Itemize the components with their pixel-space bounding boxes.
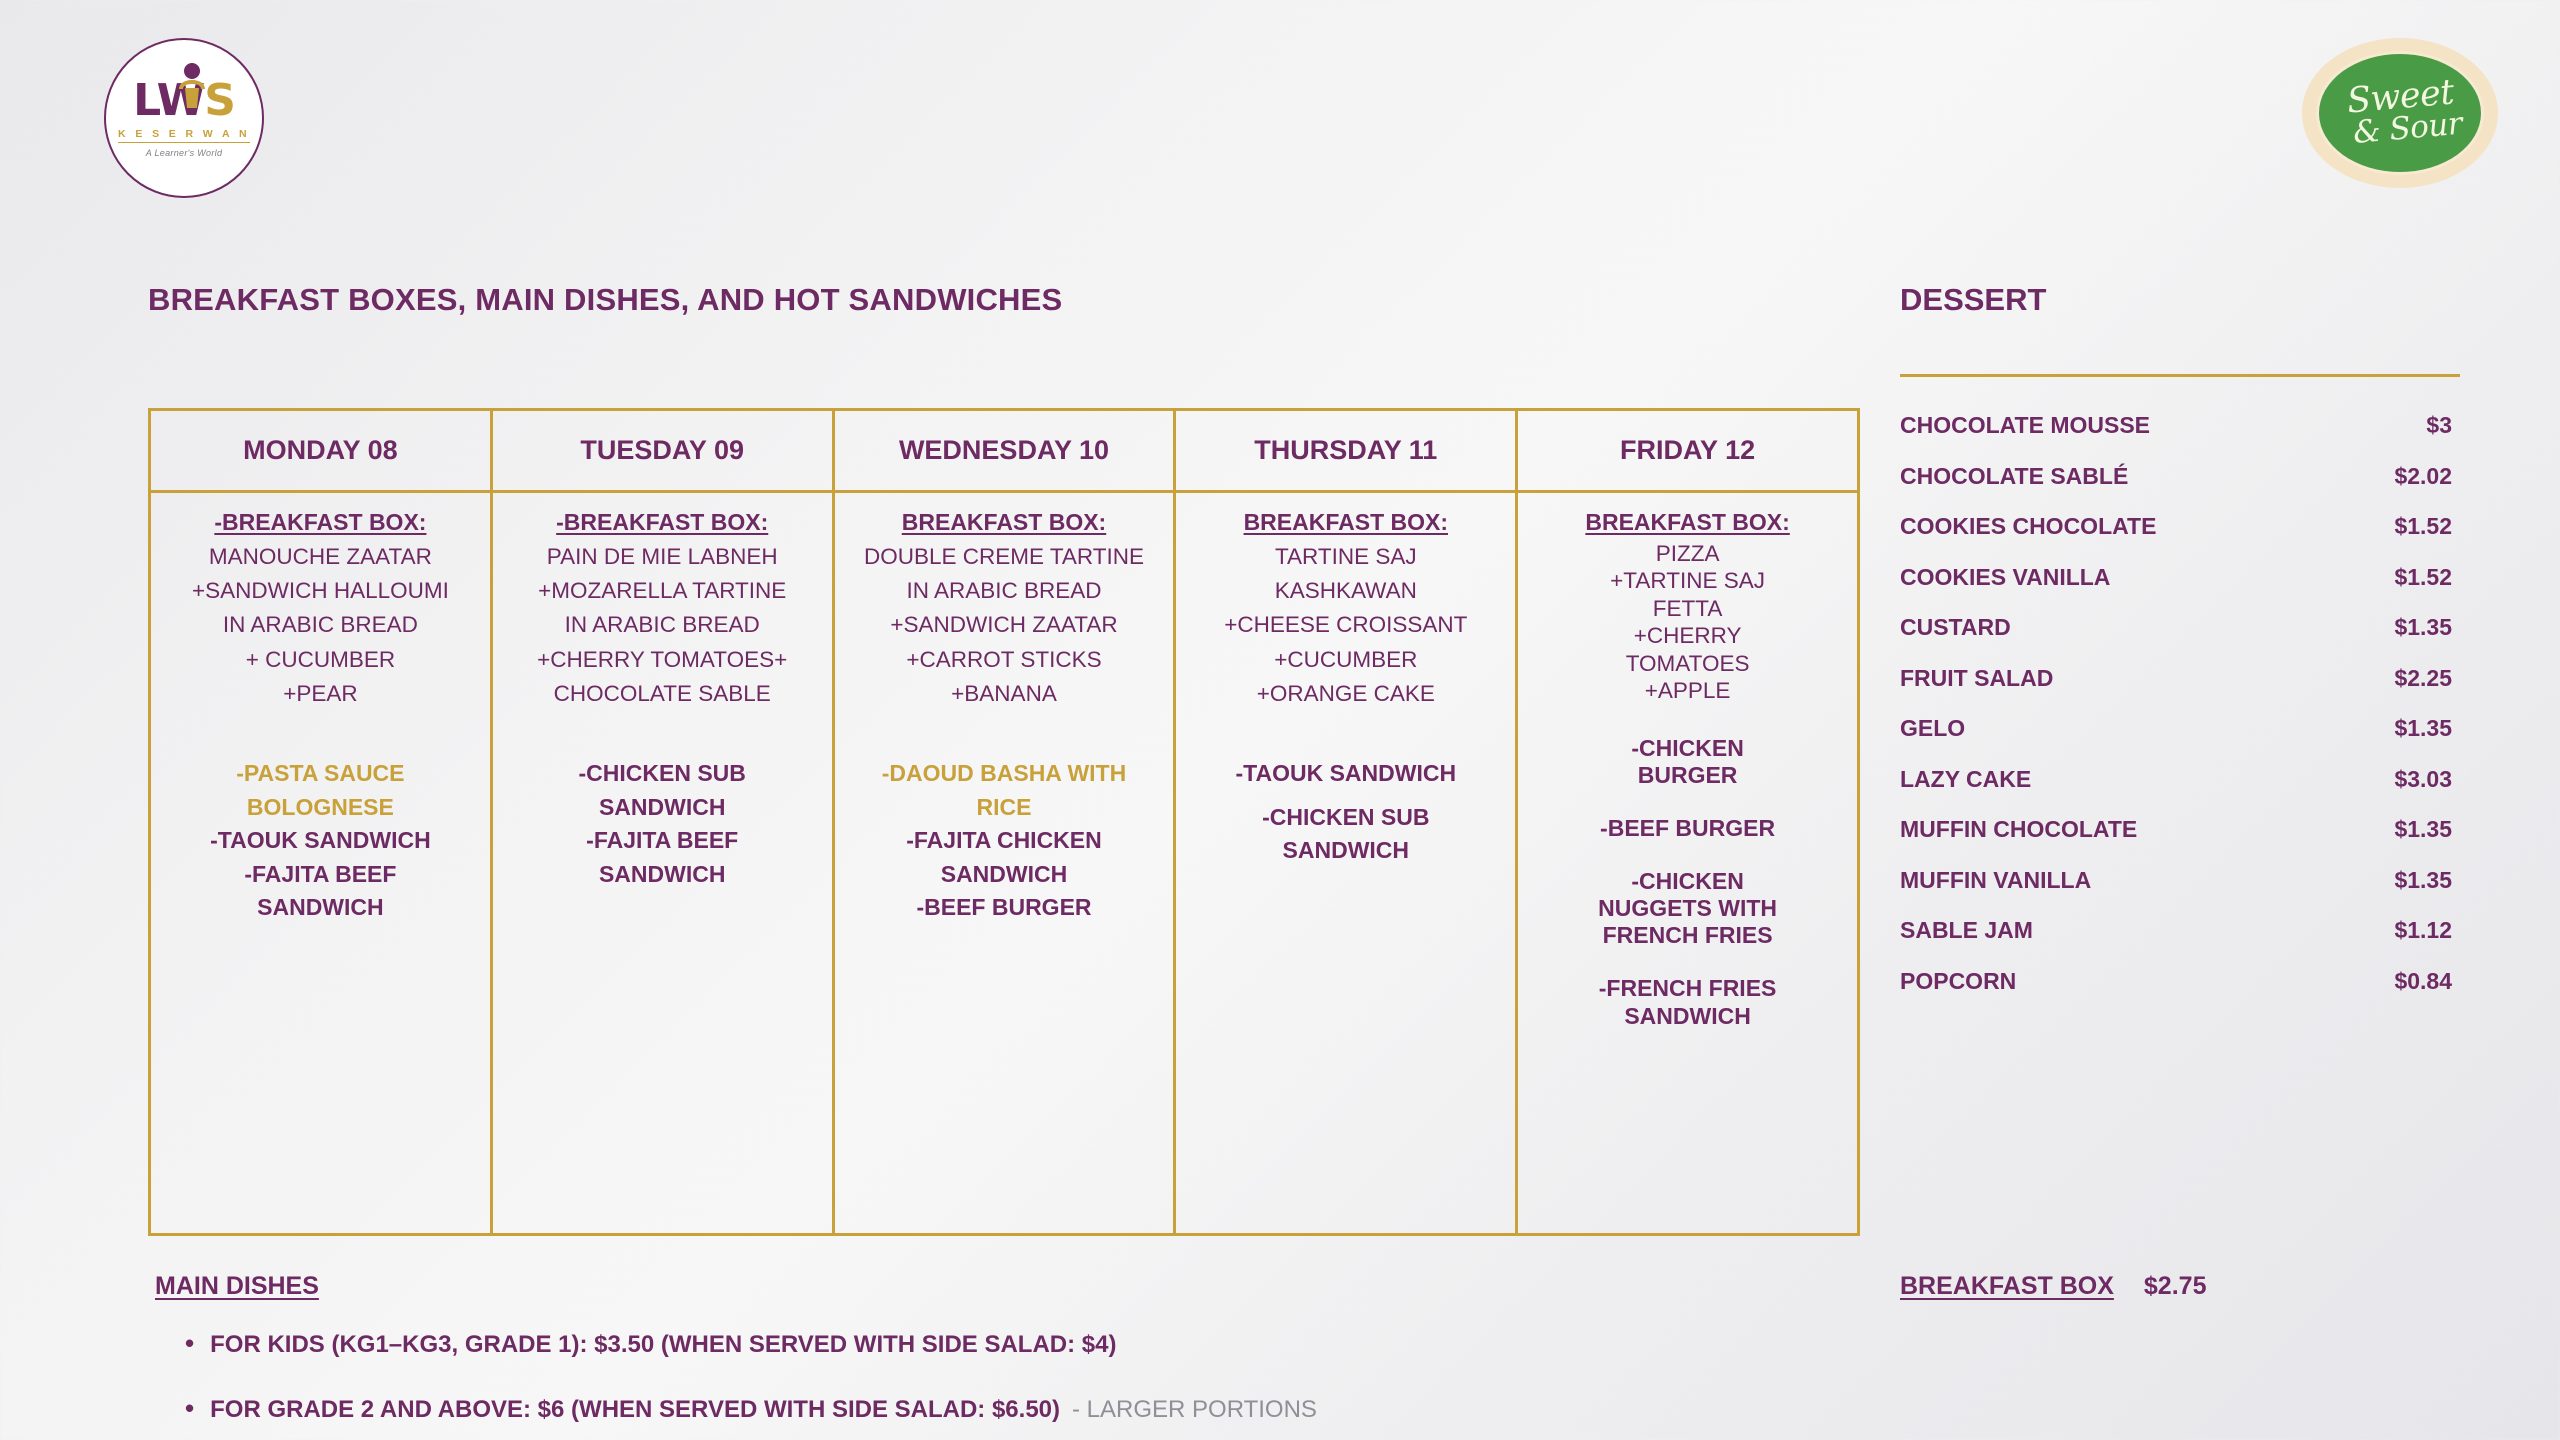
breakfast-box-item: IN ARABIC BREAD bbox=[157, 608, 484, 642]
breakfast-box-item: +PEAR bbox=[157, 677, 484, 711]
day-header: THURSDAY 11 bbox=[1176, 411, 1515, 493]
dessert-name: COOKIES VANILLA bbox=[1900, 564, 2110, 591]
lwis-school-logo: LW S K E S E R W A N A Learner's World bbox=[104, 38, 264, 198]
sweet-logo-line2: & Sour bbox=[2352, 109, 2463, 149]
dessert-row: CHOCOLATE MOUSSE$3 bbox=[1900, 412, 2460, 439]
day-column: FRIDAY 12BREAKFAST BOX:PIZZA+TARTINE SAJ… bbox=[1518, 411, 1857, 1233]
dessert-name: CHOCOLATE MOUSSE bbox=[1900, 412, 2150, 439]
breakfast-box-item: PIZZA bbox=[1524, 540, 1851, 567]
lwis-tagline: A Learner's World bbox=[146, 148, 223, 158]
dish-item: -PASTA SAUCE bbox=[157, 757, 484, 791]
breakfast-box-item: TARTINE SAJ bbox=[1182, 540, 1509, 574]
dish-item: NUGGETS WITH bbox=[1524, 895, 1851, 922]
section-spacer bbox=[1182, 711, 1509, 757]
dish-item: SANDWICH bbox=[499, 858, 826, 892]
day-header: MONDAY 08 bbox=[151, 411, 490, 493]
dish-item: -TAOUK SANDWICH bbox=[1182, 757, 1509, 791]
section-spacer bbox=[1524, 949, 1851, 975]
dessert-price: $1.52 bbox=[2394, 513, 2460, 540]
dish-item: -BEEF BURGER bbox=[1524, 815, 1851, 842]
breakfast-box-price: $2.75 bbox=[2144, 1272, 2207, 1301]
breakfast-box-item: +CHERRY TOMATOES+ bbox=[499, 643, 826, 677]
breakfast-box-title: -BREAKFAST BOX: bbox=[157, 509, 484, 536]
page-title: BREAKFAST BOXES, MAIN DISHES, AND HOT SA… bbox=[148, 282, 1062, 318]
lwis-keserwan-label: K E S E R W A N bbox=[118, 128, 250, 143]
weekly-menu-table: MONDAY 08-BREAKFAST BOX:MANOUCHE ZAATAR+… bbox=[148, 408, 1860, 1236]
dessert-name: MUFFIN CHOCOLATE bbox=[1900, 816, 2137, 843]
dessert-row: COOKIES VANILLA$1.52 bbox=[1900, 564, 2460, 591]
price-bullet-text: FOR KIDS (KG1–KG3, GRADE 1): $3.50 (WHEN… bbox=[210, 1331, 1116, 1359]
breakfast-box-price-row: BREAKFAST BOX $2.75 bbox=[1900, 1272, 2206, 1301]
breakfast-box-item: MANOUCHE ZAATAR bbox=[157, 540, 484, 574]
price-bullet-text: FOR GRADE 2 AND ABOVE: $6 (WHEN SERVED W… bbox=[210, 1396, 1060, 1424]
dessert-row: COOKIES CHOCOLATE$1.52 bbox=[1900, 513, 2460, 540]
dessert-row: FRUIT SALAD$2.25 bbox=[1900, 665, 2460, 692]
dessert-row: MUFFIN CHOCOLATE$1.35 bbox=[1900, 816, 2460, 843]
dessert-row: CHOCOLATE SABLÉ$2.02 bbox=[1900, 463, 2460, 490]
breakfast-box-item: +APPLE bbox=[1524, 677, 1851, 704]
dish-item: -FRENCH FRIES bbox=[1524, 975, 1851, 1002]
dessert-row: GELO$1.35 bbox=[1900, 715, 2460, 742]
dish-item: -CHICKEN SUB bbox=[499, 757, 826, 791]
dish-item: SANDWICH bbox=[157, 891, 484, 925]
dessert-price: $0.84 bbox=[2394, 968, 2460, 995]
price-bullet: •FOR KIDS (KG1–KG3, GRADE 1): $3.50 (WHE… bbox=[185, 1330, 1885, 1359]
breakfast-box-item: +MOZARELLA TARTINE bbox=[499, 574, 826, 608]
dessert-divider bbox=[1900, 374, 2460, 377]
breakfast-box-item: IN ARABIC BREAD bbox=[841, 574, 1168, 608]
breakfast-box-item: KASHKAWAN bbox=[1182, 574, 1509, 608]
dish-item: SANDWICH bbox=[1524, 1003, 1851, 1030]
dish-item: FRENCH FRIES bbox=[1524, 922, 1851, 949]
breakfast-box-label: BREAKFAST BOX bbox=[1900, 1272, 2114, 1301]
dessert-name: CHOCOLATE SABLÉ bbox=[1900, 463, 2128, 490]
dessert-price: $1.35 bbox=[2394, 816, 2460, 843]
day-content: BREAKFAST BOX:TARTINE SAJKASHKAWAN+CHEES… bbox=[1176, 493, 1515, 1233]
dessert-price: $1.52 bbox=[2394, 564, 2460, 591]
breakfast-box-item: +ORANGE CAKE bbox=[1182, 677, 1509, 711]
breakfast-box-item: +BANANA bbox=[841, 677, 1168, 711]
breakfast-box-item: PAIN DE MIE LABNEH bbox=[499, 540, 826, 574]
learner-figure-icon bbox=[177, 62, 207, 114]
dessert-name: COOKIES CHOCOLATE bbox=[1900, 513, 2156, 540]
day-header: TUESDAY 09 bbox=[493, 411, 832, 493]
breakfast-box-item: FETTA bbox=[1524, 595, 1851, 622]
dessert-name: SABLE JAM bbox=[1900, 917, 2033, 944]
day-column: WEDNESDAY 10BREAKFAST BOX:DOUBLE CREME T… bbox=[835, 411, 1177, 1233]
dessert-name: FRUIT SALAD bbox=[1900, 665, 2053, 692]
breakfast-box-title: BREAKFAST BOX: bbox=[1182, 509, 1509, 536]
dessert-row: LAZY CAKE$3.03 bbox=[1900, 766, 2460, 793]
main-dishes-heading: MAIN DISHES bbox=[155, 1272, 319, 1301]
dessert-price: $1.12 bbox=[2394, 917, 2460, 944]
dessert-price: $1.35 bbox=[2394, 614, 2460, 641]
dessert-name: CUSTARD bbox=[1900, 614, 2011, 641]
dessert-price: $3.03 bbox=[2394, 766, 2460, 793]
day-column: MONDAY 08-BREAKFAST BOX:MANOUCHE ZAATAR+… bbox=[151, 411, 493, 1233]
sweet-and-sour-logo: Sweet & Sour bbox=[2302, 38, 2498, 188]
section-spacer bbox=[1524, 705, 1851, 735]
dessert-row: POPCORN$0.84 bbox=[1900, 968, 2460, 995]
lwis-wordmark: LW S bbox=[133, 79, 235, 123]
dish-item: BURGER bbox=[1524, 762, 1851, 789]
dessert-price: $2.02 bbox=[2394, 463, 2460, 490]
lwis-wordmark-s: S bbox=[204, 79, 235, 123]
breakfast-box-item: +CHEESE CROISSANT bbox=[1182, 608, 1509, 642]
dessert-name: LAZY CAKE bbox=[1900, 766, 2031, 793]
dish-item: -CHICKEN SUB bbox=[1182, 801, 1509, 835]
bullet-dot-icon: • bbox=[185, 1395, 194, 1421]
dessert-name: POPCORN bbox=[1900, 968, 2016, 995]
day-column: TUESDAY 09-BREAKFAST BOX:PAIN DE MIE LAB… bbox=[493, 411, 835, 1233]
breakfast-box-item: +CARROT STICKS bbox=[841, 643, 1168, 677]
dessert-name: MUFFIN VANILLA bbox=[1900, 867, 2091, 894]
dish-item: -FAJITA BEEF bbox=[499, 824, 826, 858]
breakfast-box-item: +TARTINE SAJ bbox=[1524, 567, 1851, 594]
dish-item: RICE bbox=[841, 791, 1168, 825]
dessert-price: $3 bbox=[2426, 412, 2460, 439]
dessert-price: $1.35 bbox=[2394, 867, 2460, 894]
dessert-row: CUSTARD$1.35 bbox=[1900, 614, 2460, 641]
section-spacer bbox=[1182, 791, 1509, 801]
section-spacer bbox=[841, 711, 1168, 757]
day-column: THURSDAY 11BREAKFAST BOX:TARTINE SAJKASH… bbox=[1176, 411, 1518, 1233]
dish-item: BOLOGNESE bbox=[157, 791, 484, 825]
breakfast-box-item: +CHERRY bbox=[1524, 622, 1851, 649]
breakfast-box-item: TOMATOES bbox=[1524, 650, 1851, 677]
dessert-price: $1.35 bbox=[2394, 715, 2460, 742]
dessert-name: GELO bbox=[1900, 715, 1965, 742]
dish-item: -BEEF BURGER bbox=[841, 891, 1168, 925]
dessert-row: SABLE JAM$1.12 bbox=[1900, 917, 2460, 944]
sweet-and-sour-badge: Sweet & Sour bbox=[2316, 51, 2484, 175]
breakfast-box-item: IN ARABIC BREAD bbox=[499, 608, 826, 642]
breakfast-box-title: BREAKFAST BOX: bbox=[1524, 509, 1851, 536]
section-spacer bbox=[499, 711, 826, 757]
dish-item: -DAOUD BASHA WITH bbox=[841, 757, 1168, 791]
day-content: -BREAKFAST BOX:PAIN DE MIE LABNEH+MOZARE… bbox=[493, 493, 832, 1233]
dish-item: -FAJITA BEEF bbox=[157, 858, 484, 892]
day-header: FRIDAY 12 bbox=[1518, 411, 1857, 493]
dish-item: -CHICKEN bbox=[1524, 735, 1851, 762]
dessert-price: $2.25 bbox=[2394, 665, 2460, 692]
section-spacer bbox=[1524, 842, 1851, 868]
dish-item: SANDWICH bbox=[841, 858, 1168, 892]
breakfast-box-item: +CUCUMBER bbox=[1182, 643, 1509, 677]
day-header: WEDNESDAY 10 bbox=[835, 411, 1174, 493]
dish-item: -CHICKEN bbox=[1524, 868, 1851, 895]
price-bullet: •FOR GRADE 2 AND ABOVE: $6 (WHEN SERVED … bbox=[185, 1395, 1885, 1424]
breakfast-box-item: + CUCUMBER bbox=[157, 643, 484, 677]
main-dishes-bullets: •FOR KIDS (KG1–KG3, GRADE 1): $3.50 (WHE… bbox=[185, 1330, 1885, 1440]
dish-item: SANDWICH bbox=[1182, 834, 1509, 868]
dessert-price-list: CHOCOLATE MOUSSE$3CHOCOLATE SABLÉ$2.02CO… bbox=[1900, 412, 2460, 1018]
day-content: -BREAKFAST BOX:MANOUCHE ZAATAR+SANDWICH … bbox=[151, 493, 490, 1233]
dessert-title: DESSERT bbox=[1900, 282, 2046, 318]
day-content: BREAKFAST BOX:DOUBLE CREME TARTINEIN ARA… bbox=[835, 493, 1174, 1233]
section-spacer bbox=[1524, 789, 1851, 815]
price-bullet-suffix: - LARGER PORTIONS bbox=[1072, 1396, 1317, 1424]
bullet-dot-icon: • bbox=[185, 1330, 194, 1356]
section-spacer bbox=[157, 711, 484, 757]
breakfast-box-item: CHOCOLATE SABLE bbox=[499, 677, 826, 711]
breakfast-box-item: +SANDWICH ZAATAR bbox=[841, 608, 1168, 642]
dish-item: -FAJITA CHICKEN bbox=[841, 824, 1168, 858]
dessert-row: MUFFIN VANILLA$1.35 bbox=[1900, 867, 2460, 894]
breakfast-box-title: BREAKFAST BOX: bbox=[841, 509, 1168, 536]
breakfast-box-item: DOUBLE CREME TARTINE bbox=[841, 540, 1168, 574]
dish-item: SANDWICH bbox=[499, 791, 826, 825]
dish-item: -TAOUK SANDWICH bbox=[157, 824, 484, 858]
breakfast-box-title: -BREAKFAST BOX: bbox=[499, 509, 826, 536]
breakfast-box-item: +SANDWICH HALLOUMI bbox=[157, 574, 484, 608]
day-content: BREAKFAST BOX:PIZZA+TARTINE SAJFETTA+CHE… bbox=[1518, 493, 1857, 1233]
